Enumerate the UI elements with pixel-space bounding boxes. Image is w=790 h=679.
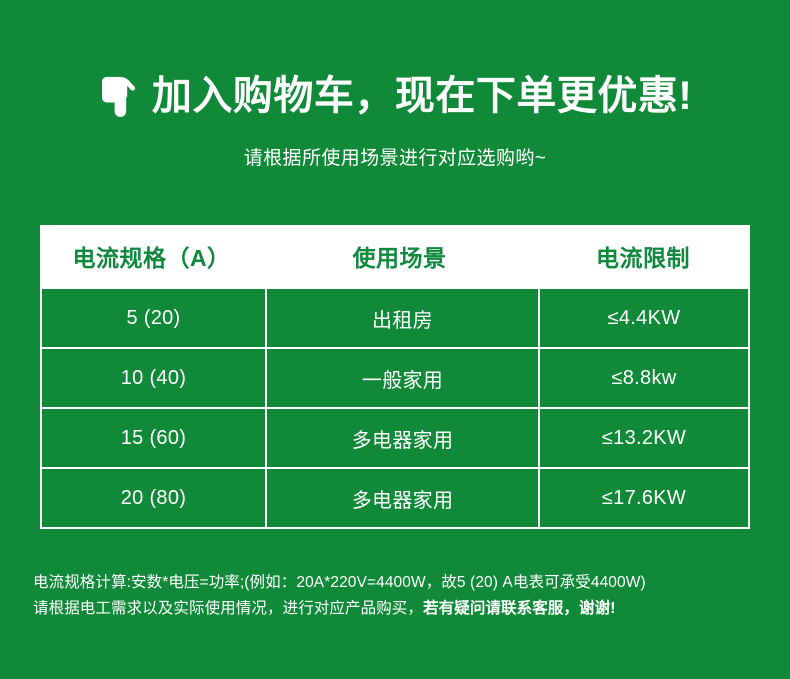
- table-row: 15 (60) 多电器家用 ≤13.2KW: [42, 407, 748, 467]
- promo-banner-page: 加入购物车，现在下单更优惠! 请根据所使用场景进行对应选购哟~ 电流规格（A） …: [0, 0, 790, 679]
- current-spec-table: 电流规格（A） 使用场景 电流限制 5 (20) 出租房 ≤4.4KW 10 (…: [40, 225, 750, 529]
- pointing-hand-down-icon: [98, 75, 138, 119]
- cell-usage-scene: 一般家用: [265, 349, 538, 407]
- table-row: 10 (40) 一般家用 ≤8.8kw: [42, 347, 748, 407]
- cell-current-spec: 5 (20): [42, 289, 265, 347]
- table-row: 20 (80) 多电器家用 ≤17.6KW: [42, 467, 748, 527]
- heading-block: 加入购物车，现在下单更优惠! 请根据所使用场景进行对应选购哟~: [0, 66, 790, 171]
- footer-notes: 电流规格计算:安数*电压=功率;(例如：20A*220V=4400W，故5 (2…: [33, 570, 763, 622]
- table-header-row: 电流规格（A） 使用场景 电流限制: [40, 225, 750, 287]
- cell-current-limit: ≤13.2KW: [538, 409, 748, 467]
- cell-usage-scene: 多电器家用: [265, 469, 538, 527]
- banner-subtitle: 请根据所使用场景进行对应选购哟~: [0, 148, 790, 171]
- title-row: 加入购物车，现在下单更优惠!: [0, 66, 790, 126]
- footer-note-line-2-emphasis: 若有疑问请联系客服，谢谢!: [423, 600, 615, 617]
- cell-current-limit: ≤8.8kw: [538, 349, 748, 407]
- table-body: 5 (20) 出租房 ≤4.4KW 10 (40) 一般家用 ≤8.8kw 15…: [40, 287, 750, 529]
- cell-current-spec: 15 (60): [42, 409, 265, 467]
- table-row: 5 (20) 出租房 ≤4.4KW: [42, 287, 748, 347]
- cell-current-spec: 10 (40): [42, 349, 265, 407]
- cell-usage-scene: 出租房: [265, 289, 538, 347]
- cell-current-spec: 20 (80): [42, 469, 265, 527]
- footer-note-line-1: 电流规格计算:安数*电压=功率;(例如：20A*220V=4400W，故5 (2…: [33, 570, 763, 596]
- cell-current-limit: ≤4.4KW: [538, 289, 748, 347]
- column-header-usage-scene: 使用场景: [263, 225, 536, 287]
- cell-current-limit: ≤17.6KW: [538, 469, 748, 527]
- footer-note-line-2: 请根据电工需求以及实际使用情况，进行对应产品购买，若有疑问请联系客服，谢谢!: [33, 596, 763, 622]
- column-header-current-spec: 电流规格（A）: [40, 225, 263, 287]
- footer-note-line-2-normal: 请根据电工需求以及实际使用情况，进行对应产品购买，: [33, 600, 423, 617]
- column-header-current-limit: 电流限制: [536, 225, 750, 287]
- cell-usage-scene: 多电器家用: [265, 409, 538, 467]
- banner-title: 加入购物车，现在下单更优惠!: [152, 76, 692, 116]
